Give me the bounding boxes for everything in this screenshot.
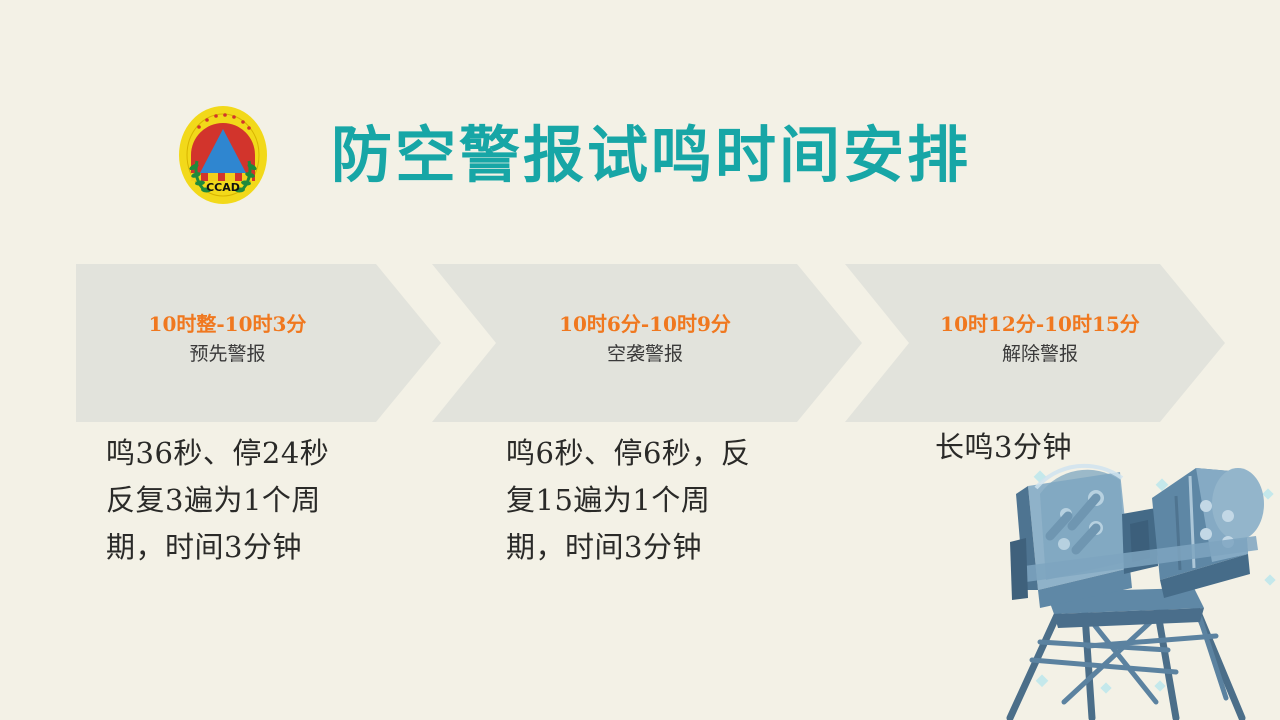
slide-root: CCAD 防空警报试鸣时间安排 10时整-10时3分 预先警报 10时6分-10… [0,0,1280,720]
stage-1-content: 10时整-10时3分 预先警报 [76,312,441,366]
ccad-emblem-icon: CCAD [175,103,271,207]
stage-chevron-band: 10时整-10时3分 预先警报 10时6分-10时9分 空袭警报 10时12分-… [0,264,1280,422]
stage-chevron-2[interactable]: 10时6分-10时9分 空袭警报 [432,264,862,422]
svg-text:CCAD: CCAD [206,181,240,194]
stage-3-content: 10时12分-10时15分 解除警报 [845,312,1225,366]
stage-3-description: 长鸣3分钟 [935,424,1195,471]
stage-2-content: 10时6分-10时9分 空袭警报 [432,312,862,366]
stage-3-label: 解除警报 [917,343,1163,366]
stage-chevron-3[interactable]: 10时12分-10时15分 解除警报 [845,264,1225,422]
stage-3-time: 10时12分-10时15分 [917,312,1163,337]
stage-2-description: 鸣6秒、停6秒，反复15遍为1个周期，时间3分钟 [506,430,768,571]
slide-header: CCAD 防空警报试鸣时间安排 [175,96,971,214]
stage-1-time: 10时整-10时3分 [88,312,367,337]
page-title: 防空警报试鸣时间安排 [331,125,971,186]
stage-2-time: 10时6分-10时9分 [502,312,788,337]
stage-1-label: 预先警报 [88,343,367,366]
stage-1-description: 鸣36秒、停24秒反复3遍为1个周期，时间3分钟 [106,430,356,571]
air-raid-siren-tower-illustration [980,450,1280,720]
stage-2-label: 空袭警报 [502,343,788,366]
stage-chevron-1[interactable]: 10时整-10时3分 预先警报 [76,264,441,422]
